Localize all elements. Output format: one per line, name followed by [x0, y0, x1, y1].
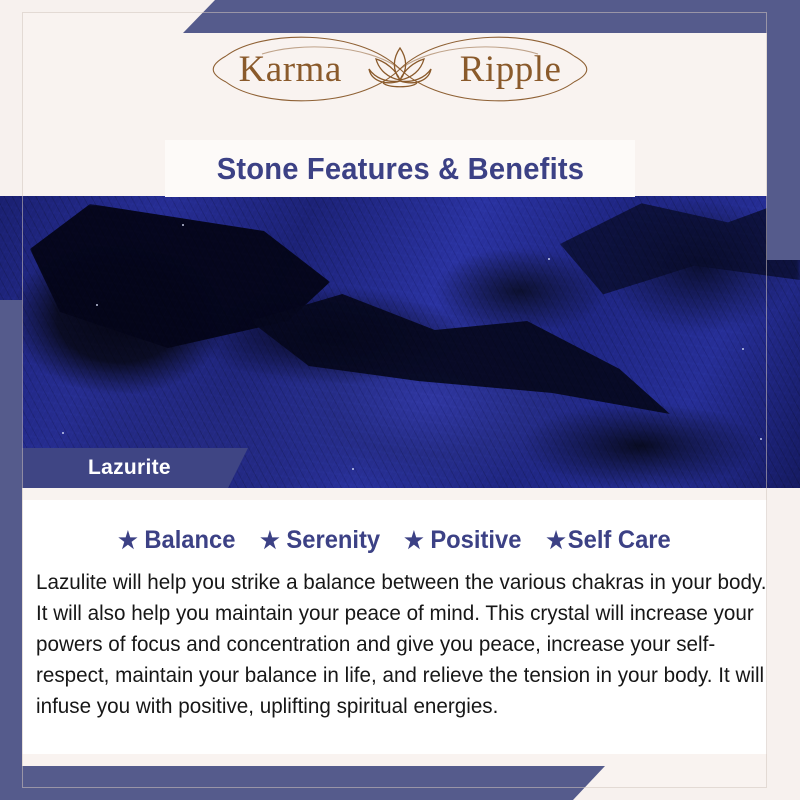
stone-name-band: Lazurite — [0, 448, 248, 488]
keyword-item-balance: ★ Balance — [110, 526, 244, 555]
stone-speck — [760, 438, 762, 440]
star-icon: ★ — [260, 529, 280, 552]
keyword-item-positive: ★ Positive — [396, 526, 530, 555]
page-title: Stone Features & Benefits — [216, 151, 583, 187]
stone-info-poster: Lazurite — [0, 0, 800, 800]
keyword-label: Serenity — [286, 526, 380, 555]
brand-name-left: Karma — [239, 48, 342, 91]
content-card: ★ Balance ★ Serenity ★ Positive ★ Self C… — [22, 500, 767, 754]
keyword-list: ★ Balance ★ Serenity ★ Positive ★ Self C… — [22, 526, 767, 555]
stone-name-label: Lazurite — [88, 456, 171, 480]
stone-speck — [182, 224, 184, 226]
star-icon: ★ — [118, 529, 138, 552]
stone-speck — [62, 432, 64, 434]
star-icon: ★ — [546, 529, 566, 552]
decorative-border-left — [0, 300, 22, 800]
brand-name-right: Ripple — [460, 48, 562, 91]
title-banner: Stone Features & Benefits — [165, 140, 635, 197]
star-icon: ★ — [404, 529, 424, 552]
brand-logo: Karma Ripple — [0, 26, 800, 112]
stone-texture-overlay — [0, 196, 800, 488]
stone-speck — [352, 468, 354, 470]
decorative-border-right — [767, 0, 800, 260]
keyword-item-serenity: ★ Serenity — [251, 526, 388, 555]
keyword-label: Positive — [430, 526, 521, 555]
keyword-item-self-care: ★ Self Care — [537, 526, 679, 555]
stone-speck — [548, 258, 550, 260]
keyword-label: Self Care — [567, 526, 670, 555]
stone-speck — [96, 304, 98, 306]
stone-description: Lazulite will help you strike a balance … — [36, 567, 775, 722]
stone-speck — [742, 348, 744, 350]
keyword-label: Balance — [145, 526, 236, 555]
lazurite-stone-photo — [0, 196, 800, 488]
